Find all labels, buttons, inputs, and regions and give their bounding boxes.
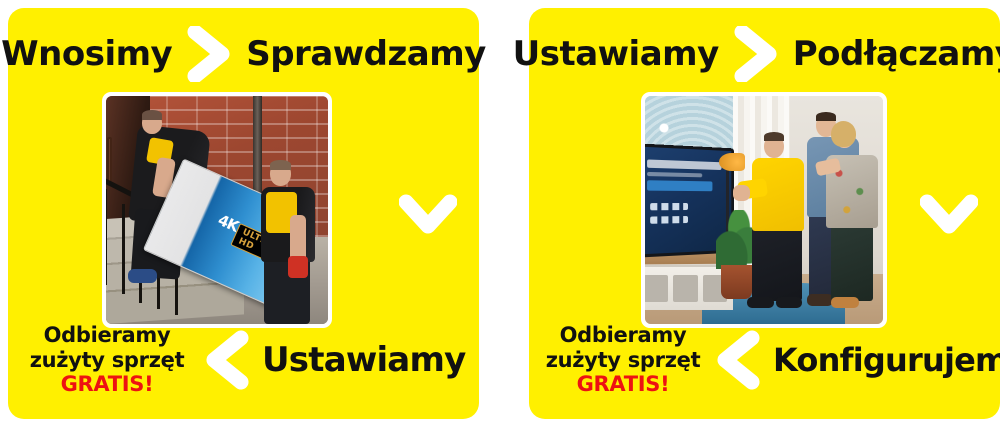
- tv-setup-subtitle-bar: [647, 172, 703, 178]
- chevron-down-wrap: [920, 194, 978, 236]
- courier-lower-hair: [270, 160, 291, 170]
- recycle-note-line1: Odbieramy: [44, 323, 171, 347]
- customer-woman-hair: [831, 121, 856, 147]
- customer-man-hair: [816, 112, 836, 121]
- chevron-right-icon: [733, 26, 779, 82]
- step-label-sprawdzamy: Sprawdzamy: [246, 37, 486, 71]
- service-steps-board: Wnosimy Sprawdzamy: [0, 0, 1000, 429]
- technician-hair: [764, 132, 784, 141]
- step-label-wnosimy: Wnosimy: [1, 37, 172, 71]
- photo-couriers-carrying-tv: 4K ULTRA HD: [106, 96, 328, 324]
- chevron-left-icon: [204, 330, 250, 390]
- technician-trousers: [752, 226, 802, 301]
- recycle-note-line2: zużyty sprzęt: [546, 348, 701, 372]
- recycle-note-line2: zużyty sprzęt: [30, 348, 185, 372]
- customer-man-shoe: [807, 294, 833, 305]
- tv-setup-title-bar: [647, 160, 722, 170]
- courier-upper-shoe: [128, 269, 157, 283]
- technician-shoe: [776, 297, 802, 308]
- plant-pot: [721, 265, 752, 299]
- technician-shoe: [747, 297, 773, 308]
- recycle-note: Odbieramy zużyty sprzęt GRATIS!: [22, 323, 192, 396]
- customer-woman-trousers: [831, 224, 874, 302]
- customer-woman-shoe: [831, 297, 860, 308]
- chevron-left-icon: [715, 330, 761, 390]
- chevron-down-icon: [399, 194, 457, 236]
- recycle-note: Odbieramy zużyty sprzęt GRATIS!: [543, 323, 703, 396]
- step-label-ustawiamy: Ustawiamy: [513, 37, 719, 71]
- floor-lamp-shade: [719, 153, 745, 171]
- bottom-step-row: Odbieramy zużyty sprzęt GRATIS! Konfigur…: [543, 317, 986, 403]
- photo-frame-delivery: 4K ULTRA HD: [102, 92, 332, 328]
- console-compartment: [645, 275, 668, 303]
- photo-technician-configuring-tv: [645, 96, 883, 324]
- top-step-row: Wnosimy Sprawdzamy: [8, 26, 479, 82]
- photo-frame-installation: [641, 92, 887, 328]
- service-panel-installation: Ustawiamy Podłączamy: [529, 8, 1000, 419]
- recycle-note-gratis: GRATIS!: [22, 372, 192, 396]
- chevron-down-icon: [920, 194, 978, 236]
- bottom-step-row: Odbieramy zużyty sprzęt GRATIS! Ustawiam…: [22, 317, 465, 403]
- top-step-row: Ustawiamy Podłączamy: [529, 26, 1000, 82]
- step-label-ustawiamy: Ustawiamy: [262, 343, 465, 377]
- tv-setup-options-row: [650, 203, 687, 211]
- recycle-note-line1: Odbieramy: [560, 323, 687, 347]
- step-label-konfigurujemy: Konfigurujemy: [773, 344, 1000, 376]
- courier-upper-hair: [142, 110, 162, 120]
- chevron-right-icon: [186, 26, 232, 82]
- chevron-down-wrap: [399, 194, 457, 236]
- courier-lower-glove: [288, 256, 308, 279]
- console-compartment: [673, 275, 698, 303]
- tv-setup-highlight-row: [647, 180, 713, 191]
- media-console-cabinet: [645, 265, 733, 311]
- service-panel-delivery: Wnosimy Sprawdzamy: [8, 8, 479, 419]
- tv-setup-options-row: [650, 216, 687, 224]
- railing-post: [122, 204, 125, 294]
- recycle-note-gratis: GRATIS!: [543, 372, 703, 396]
- railing-post: [106, 189, 107, 285]
- technician-hand: [733, 185, 750, 201]
- step-label-podlaczamy: Podłączamy: [793, 37, 1000, 71]
